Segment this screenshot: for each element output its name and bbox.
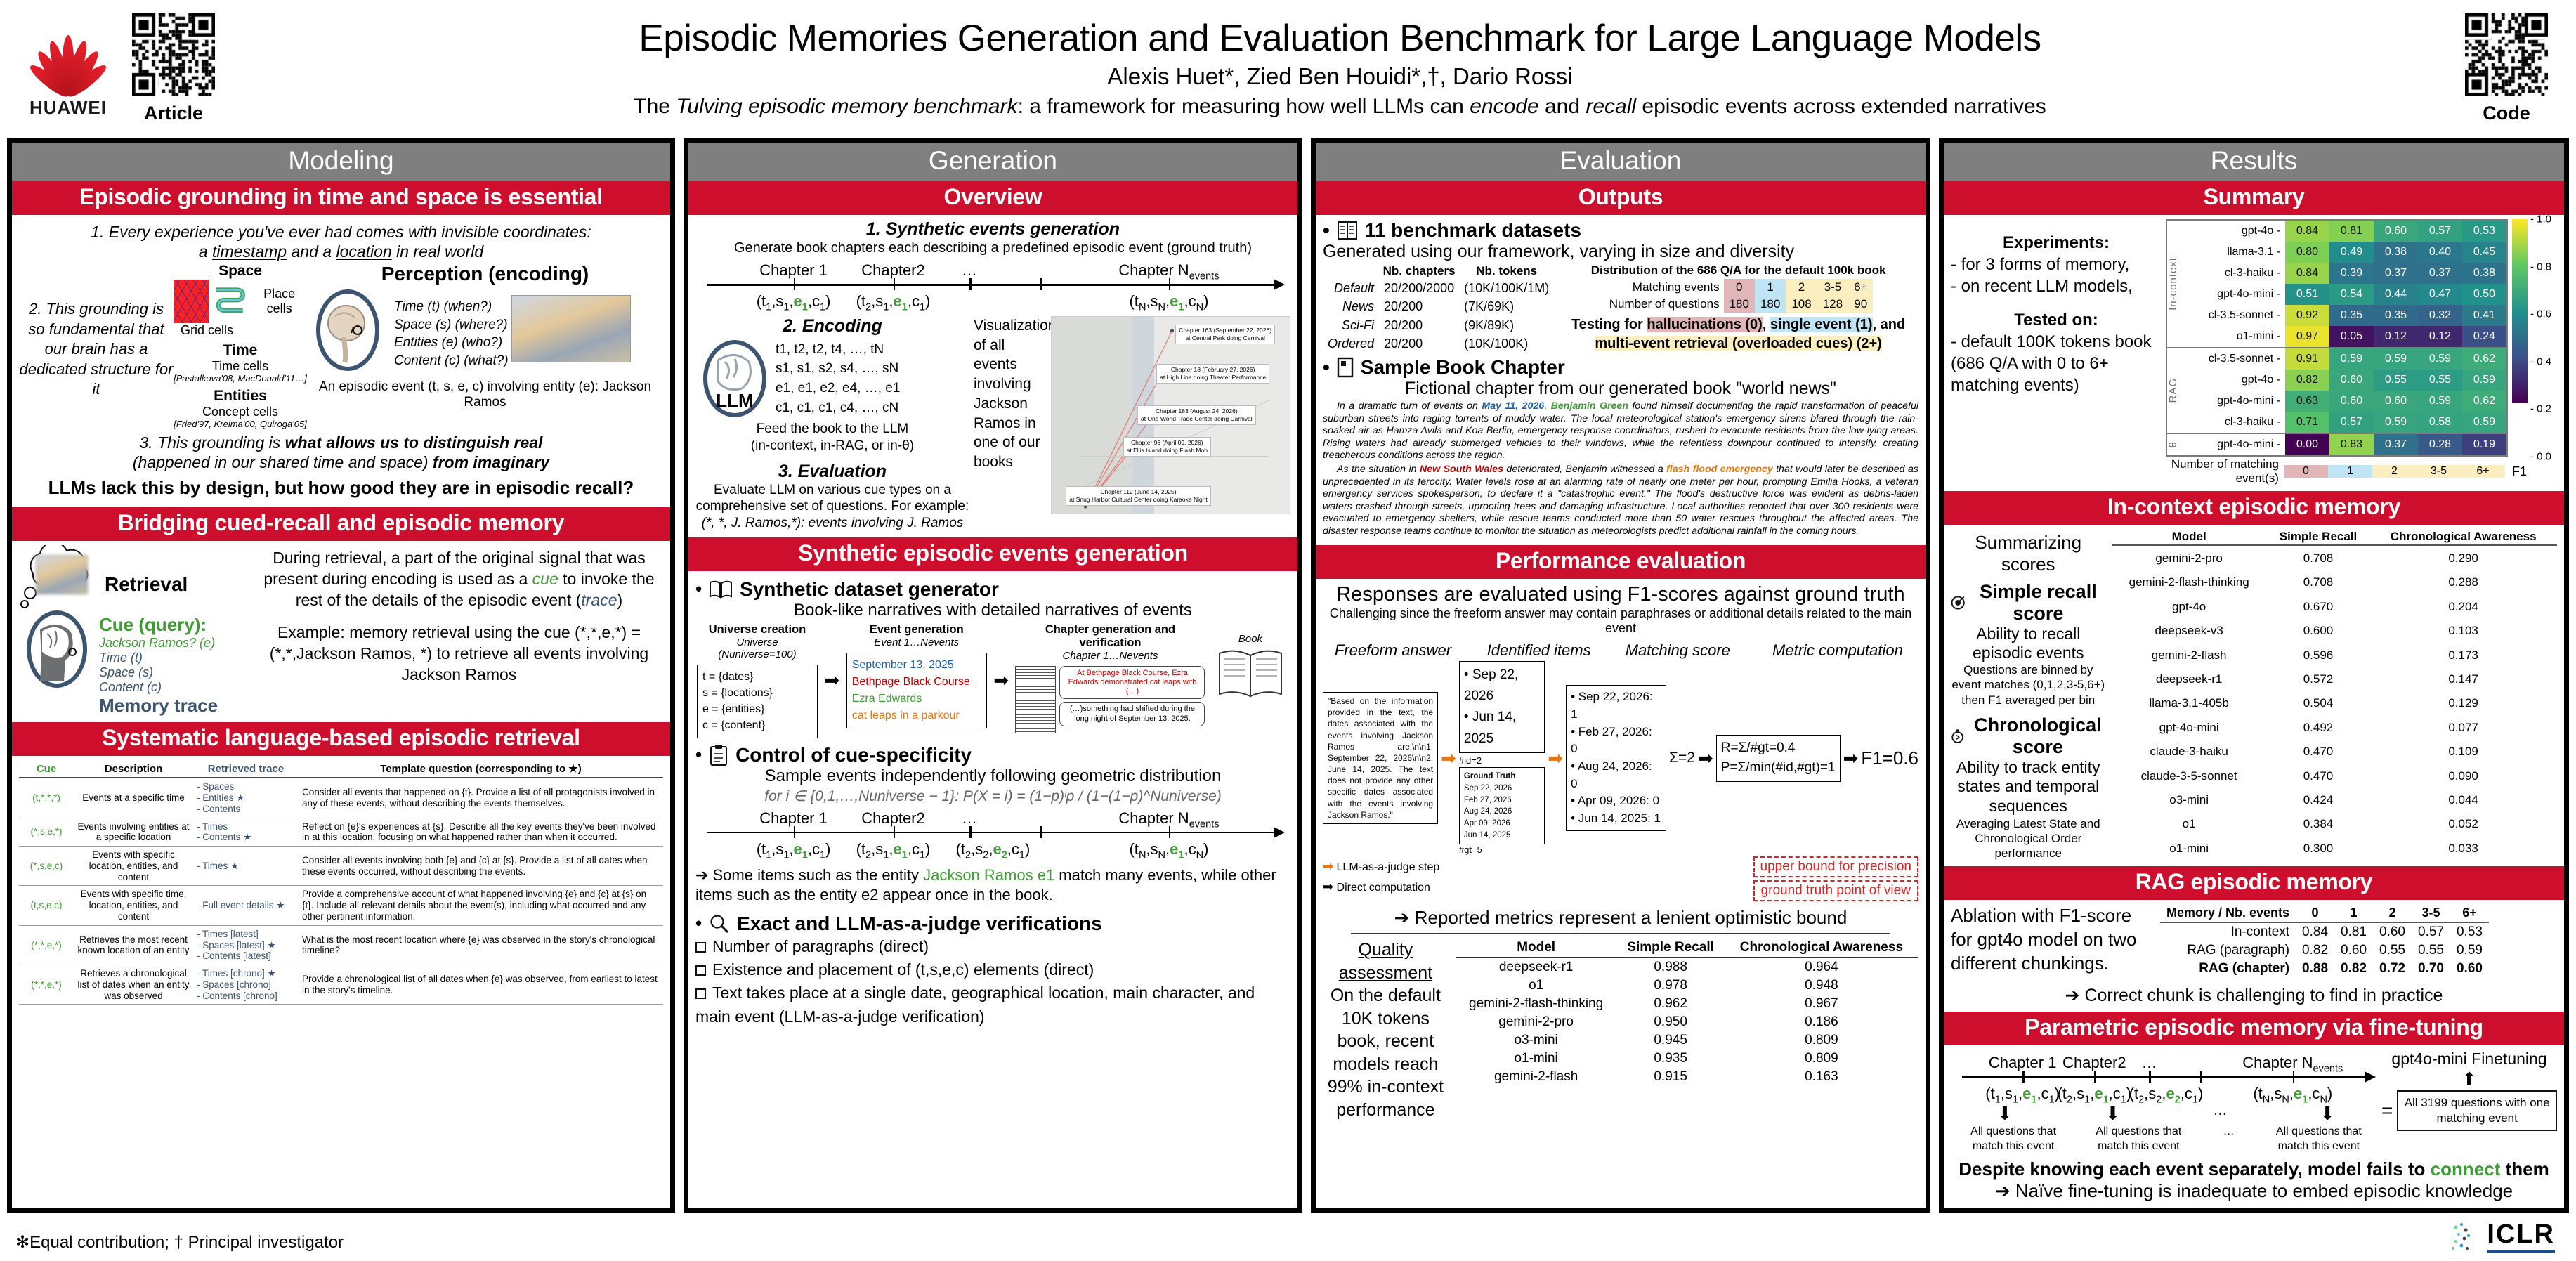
ft-sub-row: All questions that match this event All … <box>1951 1125 2381 1154</box>
column-evaluation: Evaluation Outputs • 11 benchmark datase… <box>1311 138 1930 1213</box>
heatmap-cell: 0.54 <box>2329 284 2374 305</box>
timeline-top-label: Chapter Nevents <box>2242 1054 2343 1074</box>
cell-description: Retrieves a chronological list of dates … <box>74 965 193 1005</box>
heatmap-cell: 0.55 <box>2374 370 2418 391</box>
bullet-dot-icon-5: • <box>1323 356 1330 379</box>
ft-ellipsis: … <box>2213 1103 2227 1125</box>
ftc-a: Despite knowing each event separately, m… <box>1959 1158 2430 1180</box>
performance-sub: Challenging since the freeform answer ma… <box>1323 606 1918 636</box>
table-row: (*,s,e,c)Events with specific location, … <box>19 847 663 886</box>
heatmap-cell: 0.37 <box>2374 263 2418 284</box>
heatmap-cell: 0.12 <box>2374 326 2418 347</box>
cell-trace: - Spaces- Entities ★- Contents <box>193 778 299 818</box>
testing-b: , <box>1763 317 1770 332</box>
cell-cue: (*,s,e,c) <box>19 847 74 886</box>
rag-header-cell: 6+ <box>2450 904 2489 922</box>
p1-pre: a <box>199 242 212 261</box>
cell-description: Events at a specific time <box>74 778 193 818</box>
enc-c: c1, c1, c1, c4, …, cN <box>776 398 900 418</box>
heatmap-grid: In-contextgpt-4o -0.840.810.600.570.53ll… <box>2166 219 2508 457</box>
colorbar-tick: - 1.0 <box>2530 214 2551 226</box>
ft-arrow-3-icon: ⬇ <box>2320 1103 2335 1125</box>
heatmap-cell: 0.50 <box>2462 284 2506 305</box>
score-cell: 0.129 <box>2369 691 2557 715</box>
heatmap-cell: 0.80 <box>2285 242 2329 263</box>
gt-row: Aug 24, 2026 <box>1464 806 1540 818</box>
cell-description: Events involving entities at a specific … <box>74 818 193 847</box>
viz-caption: Visualization of all events involving Ja… <box>974 316 1051 532</box>
qt-cell: 0.950 <box>1616 1013 1724 1031</box>
reported-metrics-note: ➔ Reported metrics represent a lenient o… <box>1323 907 1918 929</box>
cell-description: Retrieves the most recent known location… <box>74 925 193 965</box>
heatmap-cell: 0.45 <box>2462 242 2506 263</box>
qt-th-model: Model <box>1456 939 1617 958</box>
head-brain-icon <box>19 606 96 690</box>
timeline-bottom-label: (t2,s1,e1,c1) <box>2057 1085 2131 1105</box>
score-cell: 0.492 <box>2267 716 2370 740</box>
ds-cell: Ordered <box>1323 335 1379 354</box>
ft-up-arrow-icon: ⬆ <box>2381 1069 2557 1090</box>
heatmap-cell: 0.59 <box>2462 370 2506 391</box>
section-systematic-retrieval: Systematic language-based episodic retri… <box>12 722 670 756</box>
heatmap-x-tick: 3-5 <box>2417 465 2461 478</box>
testing-single: single event (1) <box>1770 317 1873 332</box>
qa-count: 180 <box>1724 296 1755 313</box>
score-cell: 0.290 <box>2369 545 2557 570</box>
score-cell: gpt-4o-mini <box>2112 716 2267 740</box>
flow-headings: Freeform answer Identified items Matchin… <box>1323 641 1918 660</box>
score-cell: 0.600 <box>2267 619 2370 643</box>
colorbar-label: F1 <box>2512 464 2527 479</box>
score-cell: 0.708 <box>2267 545 2370 570</box>
score-cell: claude-3-5-sonnet <box>2112 764 2267 788</box>
modeling-point-3: 3. This grounding is what allows us to d… <box>19 433 663 473</box>
datasets-heading: • 11 benchmark datasets <box>1323 219 1918 242</box>
section-bridging: Bridging cued-recall and episodic memory <box>12 507 670 541</box>
score-cell: 0.424 <box>2267 788 2370 812</box>
article-qr-code[interactable] <box>132 13 215 96</box>
grid-cells-label: Grid cells <box>181 323 307 338</box>
ft-down-arrows: ⬇⬇ …⬇ <box>1951 1103 2381 1125</box>
heatmap-cell: 0.60 <box>2329 370 2374 391</box>
heatmap-cell: 0.92 <box>2285 305 2329 326</box>
qt-cell: 0.978 <box>1616 976 1724 995</box>
iclr-mark-icon <box>2445 1217 2481 1254</box>
cue-specificity-sub: Sample events independently following ge… <box>695 766 1290 786</box>
score-cell: o3-mini <box>2112 788 2267 812</box>
generation-body-2: • Synthetic dataset generator Book-like … <box>688 571 1297 1208</box>
place-cells-icon <box>211 283 249 320</box>
heatmap-group-label: θ <box>2167 441 2181 447</box>
experiments-l1: - for 3 forms of memory, <box>1951 254 2162 275</box>
cue-note-a: ➔ Some items such as the entity <box>695 866 923 884</box>
score-cell: o1 <box>2112 812 2267 836</box>
heatmap-x-tick: 0 <box>2284 465 2328 478</box>
trace-item: - Contents [latest] <box>197 950 295 962</box>
timeline-tick <box>969 826 972 838</box>
score-cell: 0.470 <box>2267 740 2370 764</box>
table-row: deepseek-r10.9880.964 <box>1456 958 1918 976</box>
rag-cell: 0.60 <box>2334 941 2373 960</box>
flow-arrow-1-icon: ➡ <box>1441 747 1456 769</box>
results-body-4: Chapter 1Chapter2…Chapter Nevents(t1,s1,… <box>1944 1045 2564 1208</box>
blurred-memory-photo <box>36 555 88 594</box>
q-content: Content (c) (what?) <box>394 352 509 370</box>
modeling-body-2: Retrieval Cue (query): <box>12 541 670 722</box>
cell-description: Events with specific time, location, ent… <box>74 886 193 925</box>
concept-cells-label: Concept cells <box>174 405 307 419</box>
score-cell: 0.204 <box>2369 594 2557 618</box>
ft-sub-3: All questions that match this event <box>2270 1125 2368 1154</box>
verification-list: Number of paragraphs (direct)Existence a… <box>695 935 1290 1028</box>
column-header-evaluation: Evaluation <box>1316 143 1926 181</box>
heatmap-cell: 0.81 <box>2329 221 2374 242</box>
table-row: Default20/200/2000(10K/100K/1M) <box>1323 279 1554 298</box>
score-cell: 0.384 <box>2267 812 2370 836</box>
ds-cell: Sci-Fi <box>1323 316 1379 335</box>
table-row: gemini-2-pro0.7080.290 <box>2112 545 2557 570</box>
legend-direct: ➡ Direct computation <box>1323 877 1439 897</box>
callout1-text: At Bethpage Black Course, Ezra Edwards d… <box>1068 669 1197 695</box>
trace-item: - Times <box>197 821 295 832</box>
heatmap-x-label: Number of matching event(s) <box>2166 457 2284 485</box>
verification-title: Exact and LLM-as-a-judge verifications <box>737 913 1102 935</box>
heatmap-cell: 0.59 <box>2418 391 2462 412</box>
time-label: Time <box>174 342 307 359</box>
matching-score-box: • Sep 22, 2026: 1 • Feb 27, 2026: 0 • Au… <box>1566 685 1666 830</box>
heatmap-row-label: gpt-4o-mini - <box>2181 395 2285 407</box>
note-upper-bound: upper bound for precision <box>1753 856 1918 877</box>
table-header-row: Cue Description Retrieved trace Template… <box>19 760 663 778</box>
testing-hallucinations: hallucinations (0) <box>1647 317 1762 332</box>
score-cell: gemini-2-pro <box>2112 545 2267 570</box>
identified-1: • Sep 22, 2026 <box>1464 665 1540 707</box>
table-row: deepseek-r10.5720.147 <box>2112 667 2557 691</box>
qt-cell: 0.988 <box>1616 958 1724 976</box>
pipe-h3: Chapter generation and verification <box>1015 623 1205 650</box>
timeline-top-label: Chapter2 <box>861 809 925 828</box>
qt-th-recall: Simple Recall <box>1616 939 1724 958</box>
rag-cell: 0.60 <box>2450 960 2489 978</box>
gt-row: Jun 14, 2025 <box>1464 830 1540 842</box>
rag-text: Ablation with F1-score for gpt4o model o… <box>1951 904 2155 975</box>
timeline-bottom-label: (t1,s1,e1,c1) <box>1985 1085 2060 1105</box>
checkbox-icon[interactable] <box>695 988 706 999</box>
ft-right-title: gpt4o-mini Finetuning <box>2381 1050 2557 1069</box>
heatmap-cell: 0.62 <box>2462 348 2506 370</box>
brain-illustration <box>307 287 391 378</box>
qa-count: 108 <box>1786 296 1817 313</box>
heatmap-cell: 0.35 <box>2374 305 2418 326</box>
heatmap-cell: 0.40 <box>2418 242 2462 263</box>
ft-arrow-2-icon: ⬇ <box>2105 1103 2121 1125</box>
cell-trace: - Times [chrono] ★- Spaces [chrono]- Con… <box>193 965 299 1005</box>
time-cells-refs: [Pastalkova'08, MacDonald'11…] <box>174 374 307 384</box>
cell-template-question: Provide a chronological list of all date… <box>299 965 663 1005</box>
trace-item: - Full event details ★ <box>197 900 295 911</box>
qt-cell: 0.948 <box>1725 976 1918 995</box>
heatmap-cell: 0.59 <box>2329 348 2374 370</box>
modeling-point-1-line2: a timestamp and a location in real world <box>19 242 663 261</box>
ds-cell: 20/200 <box>1379 316 1459 335</box>
qa-count: 90 <box>1848 296 1873 313</box>
gt-row: Apr 09, 2026 <box>1464 818 1540 830</box>
sample-chapter-text: In a dramatic turn of events on May 11, … <box>1323 400 1918 538</box>
qa-bin: 3-5 <box>1817 279 1848 296</box>
enc-s: s1, s1, s2, s4, …, sN <box>776 359 900 379</box>
clipboard-icon <box>709 744 728 766</box>
q-entities: Entities (e) (who?) <box>394 334 509 352</box>
rag-header-cell: 2 <box>2373 904 2412 922</box>
cell-trace: - Times- Contents ★ <box>193 818 299 847</box>
universe-c: c = {content} <box>702 717 812 733</box>
heatmap-row-label: llama-3.1 - <box>2181 246 2285 259</box>
heatmap-cell: 0.35 <box>2329 305 2374 326</box>
pipeline-chapter: Chapter generation and verification Chap… <box>1015 623 1205 733</box>
column-header-generation: Generation <box>688 143 1297 181</box>
testing-a: Testing for <box>1571 317 1647 332</box>
synthetic-generator-sub: Book-like narratives with detailed narra… <box>695 601 1290 620</box>
qt-cell: 0.809 <box>1725 1050 1918 1068</box>
trace-item: - Contents [chrono] <box>197 991 295 1002</box>
cell-trace: - Times ★ <box>193 847 299 886</box>
score-cell: 0.044 <box>2369 788 2557 812</box>
sc-th-recall: Simple Recall <box>2267 529 2370 545</box>
column-results: Results Summary Experiments: - for 3 for… <box>1939 138 2569 1213</box>
legend-llm-label: LLM-as-a-judge step <box>1337 861 1440 873</box>
score-cell: llama-3.1-405b <box>2112 691 2267 715</box>
heatmap-cell: 0.82 <box>2285 370 2329 391</box>
colorbar-tick: - 0.0 <box>2530 451 2551 463</box>
table-row: (*,*,e,*)Retrieves the most recent known… <box>19 925 663 965</box>
sc-th-model: Model <box>2112 529 2267 545</box>
bullet-dot-icon: • <box>695 578 702 600</box>
heatmap-row: gpt-4o -0.820.600.550.550.59 <box>2181 370 2506 391</box>
score-cell: 0.572 <box>2267 667 2370 691</box>
pipe-h1: Universe creation <box>697 623 818 636</box>
qa-count: 128 <box>1817 296 1848 313</box>
code-qr-code[interactable] <box>2465 13 2548 96</box>
simple-recall-title: Simple recall score <box>1970 581 2105 625</box>
flow-h-identified: Identified items <box>1479 641 1599 660</box>
map-label-2: Chapter 18 (February 27, 2026) at High L… <box>1156 364 1269 384</box>
map-label-5: Chapter 112 (June 14, 2025) at Snug Harb… <box>1066 486 1211 506</box>
gt-row: Sep 22, 2026 <box>1464 783 1540 795</box>
ds-cell: (10K/100K) <box>1459 335 1554 354</box>
iclr-logo: ICLR <box>2445 1217 2555 1254</box>
ft-sub-2: All questions that match this event <box>2089 1125 2188 1154</box>
heatmap-cell: 0.00 <box>2285 434 2329 455</box>
rag-wrap: Ablation with F1-score for gpt4o model o… <box>1951 904 2557 978</box>
chronological-sub2: Averaging Latest State and Chronological… <box>1951 816 2106 861</box>
callout2-text: (…)something had shifted during the long… <box>1070 705 1195 722</box>
timeline-bottom-label: (tN,sN,e1,cN) <box>2253 1085 2332 1105</box>
heatmap-row: o1-mini -0.970.050.120.120.24 <box>2181 326 2506 347</box>
cell-template-question: Consider all events involving both {e} a… <box>299 847 663 886</box>
qt-cell: 0.809 <box>1725 1031 1918 1050</box>
qt-cell: gemini-2-pro <box>1456 1013 1617 1031</box>
heatmap-cell: 0.60 <box>2374 391 2418 412</box>
heatmap-cell: 0.55 <box>2418 370 2462 391</box>
code-qr-block: Code <box>2465 13 2548 124</box>
enc-e: e1, e1, e2, e4, …, e1 <box>776 379 900 398</box>
table-row: In-context0.840.810.600.570.53 <box>2160 922 2489 941</box>
checkbox-icon[interactable] <box>695 942 706 953</box>
tested-title: Tested on: <box>1951 309 2162 331</box>
score-cell: deepseek-r1 <box>2112 667 2267 691</box>
poster-header: HUAWEI Article Episodic Memories Generat… <box>0 0 2576 138</box>
trace-item: - Spaces [latest] ★ <box>197 940 295 951</box>
colorbar-gradient <box>2512 219 2528 403</box>
heatmap: In-contextgpt-4o -0.840.810.600.570.53ll… <box>2166 219 2557 457</box>
cp1-name: Benjamin Green <box>1551 400 1628 412</box>
pipeline-arrow-1-icon: ➡ <box>824 669 839 691</box>
table-row: deepseek-v30.6000.103 <box>2112 619 2557 643</box>
cell-cue: (*,s,e,*) <box>19 818 74 847</box>
timeline-arrow-icon <box>1274 279 1285 290</box>
results-body-2: Summarizing scores Simple recall score A… <box>1944 525 2564 866</box>
svg-text:LLM: LLM <box>716 390 753 411</box>
timeline-tick <box>2094 1071 2096 1083</box>
stopwatch-icon <box>1951 726 1964 746</box>
heatmap-cell: 0.49 <box>2329 242 2374 263</box>
cp2-event: flash flood emergency <box>1666 464 1773 475</box>
retrieval-label: Retrieval <box>105 573 188 596</box>
datasets-title: 11 benchmark datasets <box>1365 219 1581 242</box>
grid-cells-icon <box>174 280 209 323</box>
score-cell: 0.103 <box>2369 619 2557 643</box>
generation-body-1: 1. Synthetic events generation Generate … <box>688 215 1297 537</box>
timeline-tick <box>1040 826 1042 838</box>
book-icon <box>709 580 733 599</box>
heatmap-row-label: cl-3.5-sonnet - <box>2181 309 2285 322</box>
heatmap-block: In-contextgpt-4o -0.840.810.600.570.53ll… <box>2166 219 2557 485</box>
timeline-axis <box>707 284 1274 286</box>
match-2: • Feb 27, 2026: 0 <box>1571 724 1661 758</box>
brain-cells-legend: Space Place cells Grid cells Time Time c… <box>174 263 307 430</box>
match-3: • Aug 24, 2026: 0 <box>1571 758 1661 792</box>
cell-cue: (t,*,*,*) <box>19 778 74 818</box>
chronological-heading: Chronological score <box>1951 714 2106 758</box>
retrieval-cue-table: Cue Description Retrieved trace Template… <box>19 760 663 1005</box>
cue-note: ➔ Some items such as the entity Jackson … <box>695 865 1290 906</box>
table-row: o10.9780.948 <box>1456 976 1918 995</box>
heatmap-cell: 0.59 <box>2418 348 2462 370</box>
score-cell: 0.708 <box>2267 570 2370 594</box>
finetuning-right: gpt4o-mini Finetuning ⬆ = All 3199 quest… <box>2381 1050 2557 1154</box>
verification-item: Existence and placement of (t,s,e,c) ele… <box>695 958 1290 981</box>
cue-content: Content (c) <box>99 680 218 695</box>
heatmap-group-label: RAG <box>2167 378 2181 403</box>
timeline-top-label: … <box>2141 1054 2157 1072</box>
th-description: Description <box>74 760 193 778</box>
iclr-wordmark: ICLR <box>2487 1220 2555 1253</box>
synthetic-generator-heading: • Synthetic dataset generator <box>695 578 1290 601</box>
enc-t: t1, t2, t2, t4, …, tN <box>776 340 900 360</box>
place-cells-label: Place cells <box>251 287 307 316</box>
heatmap-group: θgpt-4o-mini -0.000.830.370.280.19 <box>2167 434 2506 455</box>
qt-header-row: Model Simple Recall Chronological Awaren… <box>1456 939 1918 958</box>
cue-space: Space (s) <box>99 665 218 680</box>
cell-cue: (t,s,e,c) <box>19 886 74 925</box>
checkbox-icon[interactable] <box>695 965 706 976</box>
heatmap-cell: 0.05 <box>2329 326 2374 347</box>
identified-items-box: • Sep 22, 2026 • Jun 14, 2025 <box>1459 661 1545 754</box>
gen-step2-title: 2. Encoding <box>695 316 969 337</box>
heatmap-row-label: gpt-4o-mini - <box>2181 288 2285 301</box>
episodic-event-caption: An episodic event (t, s, e, c) involving… <box>307 379 663 410</box>
cell-template-question: Provide a comprehensive account of what … <box>299 886 663 925</box>
retrieval-diagram: Retrieval Cue (query): <box>19 545 663 717</box>
ds-cell: Default <box>1323 279 1379 298</box>
score-cell: deepseek-v3 <box>2112 619 2267 643</box>
sample-chapter-heading: • Sample Book Chapter <box>1323 356 1918 379</box>
timeline-tick <box>2149 1071 2151 1083</box>
timeline-top-label: Chapter 1 <box>759 809 828 828</box>
table-row: RAG (chapter)0.880.820.720.700.60 <box>2160 960 2489 978</box>
rag-table: Memory / Nb. events0123-56+ In-context0.… <box>2160 904 2489 978</box>
universe-s: s = {locations} <box>702 685 812 701</box>
table-row: gpt-4o-mini0.4920.077 <box>2112 716 2557 740</box>
qt-cell: o1 <box>1456 976 1617 995</box>
ft-box: All 3199 questions with one matching eve… <box>2397 1090 2557 1131</box>
retr-c: ) <box>617 591 623 609</box>
ds-th-blank <box>1323 263 1379 279</box>
heatmap-cell: 0.53 <box>2462 221 2506 242</box>
heatmap-cell: 0.84 <box>2285 263 2329 284</box>
score-cell: 0.470 <box>2267 764 2370 788</box>
heatmap-cell: 0.12 <box>2418 326 2462 347</box>
section-performance: Performance evaluation <box>1316 545 1926 579</box>
heatmap-row-label: cl-3-haiku - <box>2181 267 2285 280</box>
event-content: cat leaps in a parkour <box>852 707 981 724</box>
modeling-diagram: 2. This grounding is so fundamental that… <box>19 263 663 430</box>
th-trace: Retrieved trace <box>193 760 299 778</box>
article-qr-caption: Article <box>132 103 215 124</box>
verification-heading: • Exact and LLM-as-a-judge verifications <box>695 913 1290 935</box>
heatmap-row: llama-3.1 -0.800.490.380.400.45 <box>2181 242 2506 263</box>
heatmap-row: cl-3.5-sonnet -0.920.350.350.320.41 <box>2181 305 2506 326</box>
heatmap-cell: 0.60 <box>2374 221 2418 242</box>
p3-c: (happened in our shared time and space) <box>133 453 433 471</box>
heatmap-cell: 0.84 <box>2285 221 2329 242</box>
timeline-tick <box>1040 278 1042 290</box>
universe-t: t = {dates} <box>702 669 812 685</box>
ds-th-tokens: Nb. tokens <box>1459 263 1554 279</box>
heatmap-cell: 0.39 <box>2329 263 2374 284</box>
cp1-b: , <box>1544 400 1550 412</box>
quality-text: On the default 10K tokens book, recent m… <box>1323 984 1449 1121</box>
section-rag: RAG episodic memory <box>1944 866 2564 900</box>
heatmap-row: cl-3.5-sonnet -0.910.590.590.590.62 <box>2181 348 2506 370</box>
timeline-top-label: Chapter Nevents <box>1118 809 1219 830</box>
ds-th-chapters: Nb. chapters <box>1379 263 1459 279</box>
cp1-a: In a dramatic turn of events on <box>1337 400 1482 412</box>
chapter-para-2: As the situation in New South Wales dete… <box>1323 464 1918 538</box>
qa-row-bins: Matching events0123-56+ <box>1604 279 1874 296</box>
rag-cell: RAG (paragraph) <box>2160 941 2296 960</box>
table-row: gemini-2-pro0.9500.186 <box>1456 1013 1918 1031</box>
qa-distribution-table: Matching events0123-56+Number of questio… <box>1604 279 1874 313</box>
trace-item: - Entities ★ <box>197 792 295 804</box>
magnifier-icon <box>709 913 730 934</box>
subtitle-recall: recall <box>1586 95 1636 118</box>
timeline-bottom-label: (tN,sN,e1,cN) <box>1129 292 1208 313</box>
metric-recall: R=Σ/#gt=0.4 <box>1721 738 1836 759</box>
match-4: • Apr 09, 2026: 0 <box>1571 792 1661 810</box>
timeline-tick <box>794 826 796 838</box>
modeling-body-1: 1. Every experience you've ever had come… <box>12 215 670 507</box>
